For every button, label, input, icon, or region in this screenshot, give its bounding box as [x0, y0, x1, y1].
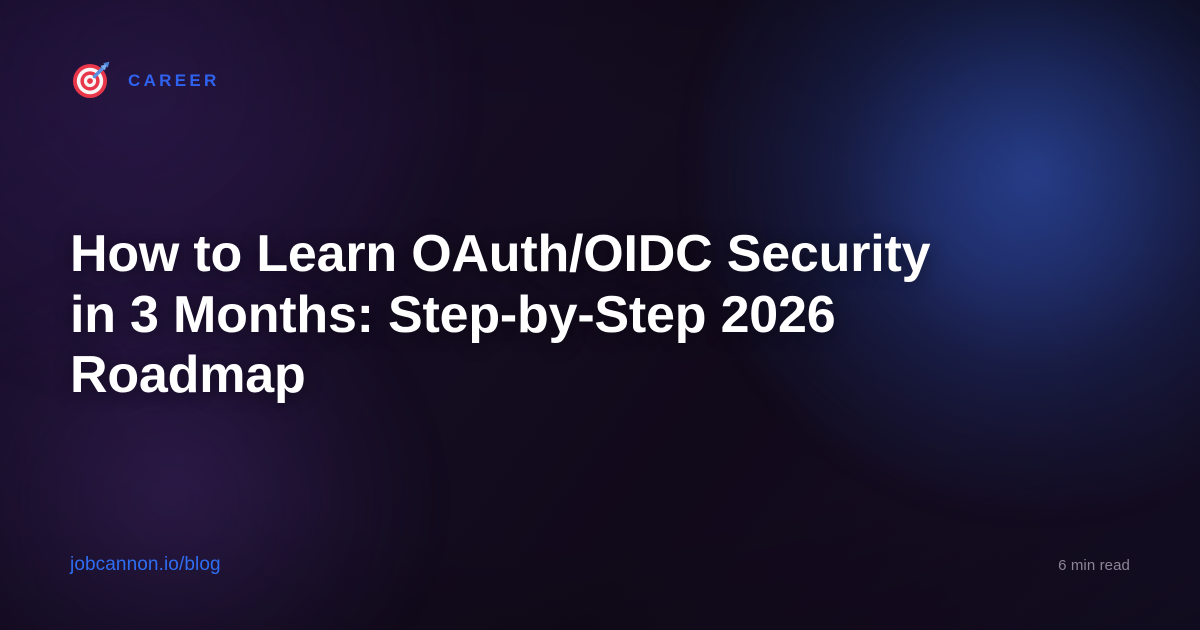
og-share-card: CAREER How to Learn OAuth/OIDC Security … [0, 0, 1200, 630]
brand-header: CAREER [70, 58, 1130, 102]
page-title: How to Learn OAuth/OIDC Security in 3 Mo… [70, 224, 970, 406]
card-footer: jobcannon.io/blog 6 min read [70, 554, 1130, 578]
card-content: CAREER How to Learn OAuth/OIDC Security … [0, 0, 1200, 630]
brand-label: CAREER [128, 72, 220, 89]
site-url-link[interactable]: jobcannon.io/blog [70, 554, 221, 576]
read-time-label: 6 min read [1058, 557, 1130, 574]
dart-target-icon [70, 59, 112, 101]
title-container: How to Learn OAuth/OIDC Security in 3 Mo… [70, 102, 1130, 554]
